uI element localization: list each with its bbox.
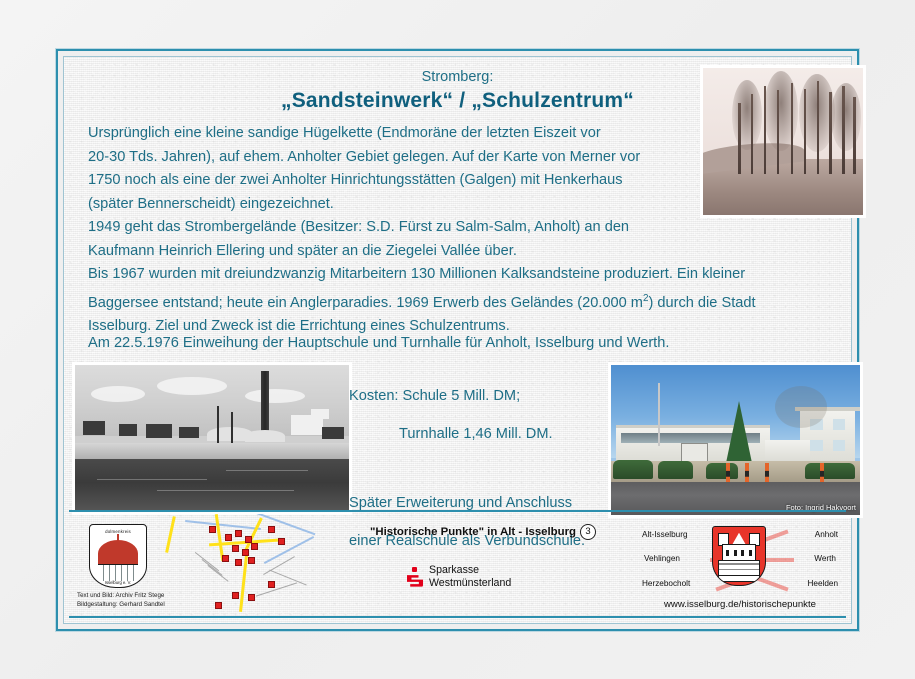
works-building xyxy=(146,424,172,438)
map-road xyxy=(165,516,176,553)
conifer-tree xyxy=(726,401,752,463)
footer-caption: "Historische Punkte" in Alt - Isselburg3 xyxy=(353,524,613,540)
body-line: Ursprünglich eine kleine sandige Hügelke… xyxy=(88,122,788,146)
credits-line-2: Bildgestaltung: Gerhard Sandtel xyxy=(77,601,165,610)
map-river xyxy=(185,520,261,530)
point-number-badge: 3 xyxy=(580,524,596,540)
body-line: 1750 noch als eine der zwei Anholter Hin… xyxy=(88,169,788,193)
body-line: 20-30 Tds. Jahren), auf ehem. Anholter G… xyxy=(88,146,788,170)
map-marker[interactable] xyxy=(225,534,232,541)
sparkasse-region: Westmünsterland xyxy=(429,577,511,590)
hedge xyxy=(613,460,653,480)
towns-cluster: Alt-Isselburg Anholt Vehlingen Werth Her… xyxy=(642,518,838,614)
body-line: Kaufmann Heinrich Ellering und später an… xyxy=(88,240,788,264)
works-water xyxy=(75,459,349,512)
bare-tree xyxy=(775,386,827,428)
forest-trunk xyxy=(829,92,831,174)
sparkasse-wordmark: Sparkasse Westmünsterland xyxy=(429,564,511,589)
sparkasse-logo: Sparkasse Westmünsterland xyxy=(407,564,511,589)
sparkasse-name: Sparkasse xyxy=(429,564,511,577)
school-link-building xyxy=(765,440,810,461)
works-ripple xyxy=(226,470,308,471)
sandworks-photo xyxy=(72,362,352,515)
inauguration-line: Am 22.5.1976 Einweihung der Hauptschule … xyxy=(88,335,828,351)
works-ripple xyxy=(97,479,207,480)
works-building xyxy=(119,424,137,436)
dolmenkreis-crest-icon: dolmenkreis Isselburg e. V. xyxy=(89,524,145,586)
town-label-vehlingen: Vehlingen xyxy=(644,554,680,563)
forest-trunk xyxy=(842,86,844,174)
school-window xyxy=(833,419,845,430)
school-window xyxy=(833,440,845,451)
map-marker[interactable] xyxy=(215,602,222,609)
map-marker[interactable] xyxy=(268,581,275,588)
sparkasse-s-icon xyxy=(407,567,423,587)
poster-screenshot: Stromberg: „Sandsteinwerk“ / „Schulzentr… xyxy=(0,0,915,679)
isselburg-shield xyxy=(712,526,766,586)
town-label-anholt: Anholt xyxy=(815,530,838,539)
forest-trunk xyxy=(791,83,793,174)
website-url[interactable]: www.isselburg.de/historischepunkte xyxy=(642,599,838,610)
hedge xyxy=(805,463,855,480)
town-label-werth: Werth xyxy=(814,554,836,563)
town-label-alt-isselburg: Alt-Isselburg xyxy=(642,530,688,539)
town-label-heelden: Heelden xyxy=(808,579,839,588)
cost-line-school: Kosten: Schule 5 Mill. DM; xyxy=(349,385,619,409)
sparkasse-dot xyxy=(412,567,417,572)
school-photo: Foto: Ingrid Hakvoort xyxy=(608,362,863,518)
crest-shield: dolmenkreis Isselburg e. V. xyxy=(89,524,147,588)
lamp-mast xyxy=(658,383,660,446)
works-chimney xyxy=(261,371,269,433)
forest-trunk xyxy=(804,89,806,174)
map-marker[interactable] xyxy=(222,555,229,562)
map-street xyxy=(256,583,297,597)
credits-line-1: Text und Bild: Archiv Fritz Stege xyxy=(77,592,165,601)
works-cloud xyxy=(157,377,227,395)
isselburg-crest-icon xyxy=(712,526,764,584)
area-text-after: ) durch die Stadt xyxy=(648,294,755,310)
works-bank xyxy=(75,443,349,459)
map-marker[interactable] xyxy=(248,594,255,601)
map-marker[interactable] xyxy=(248,557,255,564)
forest-canopy xyxy=(831,83,861,151)
poster-inner: Stromberg: „Sandsteinwerk“ / „Schulzentr… xyxy=(63,56,852,624)
map-marker[interactable] xyxy=(232,592,239,599)
town-label-herzebocholt: Herzebocholt xyxy=(642,579,690,588)
map-marker[interactable] xyxy=(242,549,249,556)
works-building xyxy=(179,427,199,438)
works-ripple xyxy=(157,490,294,491)
map-marker[interactable] xyxy=(232,545,239,552)
crest-wall xyxy=(718,560,760,582)
hedge xyxy=(658,461,693,479)
footer-divider xyxy=(69,616,846,618)
map-marker[interactable] xyxy=(209,526,216,533)
works-pole xyxy=(231,412,233,444)
map-marker[interactable] xyxy=(235,530,242,537)
body-text: Ursprünglich eine kleine sandige Hügelke… xyxy=(88,122,788,338)
map-street xyxy=(195,552,219,571)
location-map[interactable] xyxy=(159,514,324,616)
school-photo-canvas: Foto: Ingrid Hakvoort xyxy=(611,365,860,515)
works-cloud xyxy=(91,386,145,402)
sandworks-canvas xyxy=(75,365,349,512)
forest-trunk xyxy=(853,97,855,173)
poster-frame: Stromberg: „Sandsteinwerk“ / „Schulzentr… xyxy=(56,49,859,631)
sparkasse-s-shape xyxy=(407,573,423,587)
map-river xyxy=(253,514,316,535)
crest-bottom-label: Isselburg e. V. xyxy=(90,580,146,585)
map-marker[interactable] xyxy=(268,526,275,533)
works-pole xyxy=(217,406,219,444)
credits-block: Text und Bild: Archiv Fritz Stege Bildge… xyxy=(77,592,165,609)
works-building xyxy=(83,421,105,435)
hedge xyxy=(706,463,738,480)
map-marker[interactable] xyxy=(251,543,258,550)
school-sign xyxy=(681,443,708,463)
poster-footer: dolmenkreis Isselburg e. V. Text und Bil… xyxy=(69,510,846,618)
map-marker[interactable] xyxy=(235,559,242,566)
map-marker[interactable] xyxy=(278,538,285,545)
cost-line-gym: Turnhalle 1,46 Mill. DM. xyxy=(349,423,619,447)
map-street xyxy=(208,565,229,582)
body-line: (später Bennerscheidt) eingezeichnet. xyxy=(88,193,788,217)
forest-trunk xyxy=(817,81,819,174)
footer-caption-text: "Historische Punkte" in Alt - Isselburg xyxy=(370,526,576,538)
school-window xyxy=(810,440,822,451)
body-line: Bis 1967 wurden mit dreiundzwanzig Mitar… xyxy=(88,263,788,287)
area-text-before: Baggersee entstand; heute ein Anglerpara… xyxy=(88,294,643,310)
works-shed xyxy=(311,409,329,419)
works-sand-heap xyxy=(245,430,285,442)
works-cloud xyxy=(245,389,305,403)
works-building xyxy=(322,427,344,439)
body-line: 1949 geht das Strombergelände (Besitzer:… xyxy=(88,216,788,240)
cost-spacer xyxy=(349,461,619,478)
body-line-area: Baggersee entstand; heute ein Anglerpara… xyxy=(88,287,788,315)
crest-stones xyxy=(98,564,138,581)
